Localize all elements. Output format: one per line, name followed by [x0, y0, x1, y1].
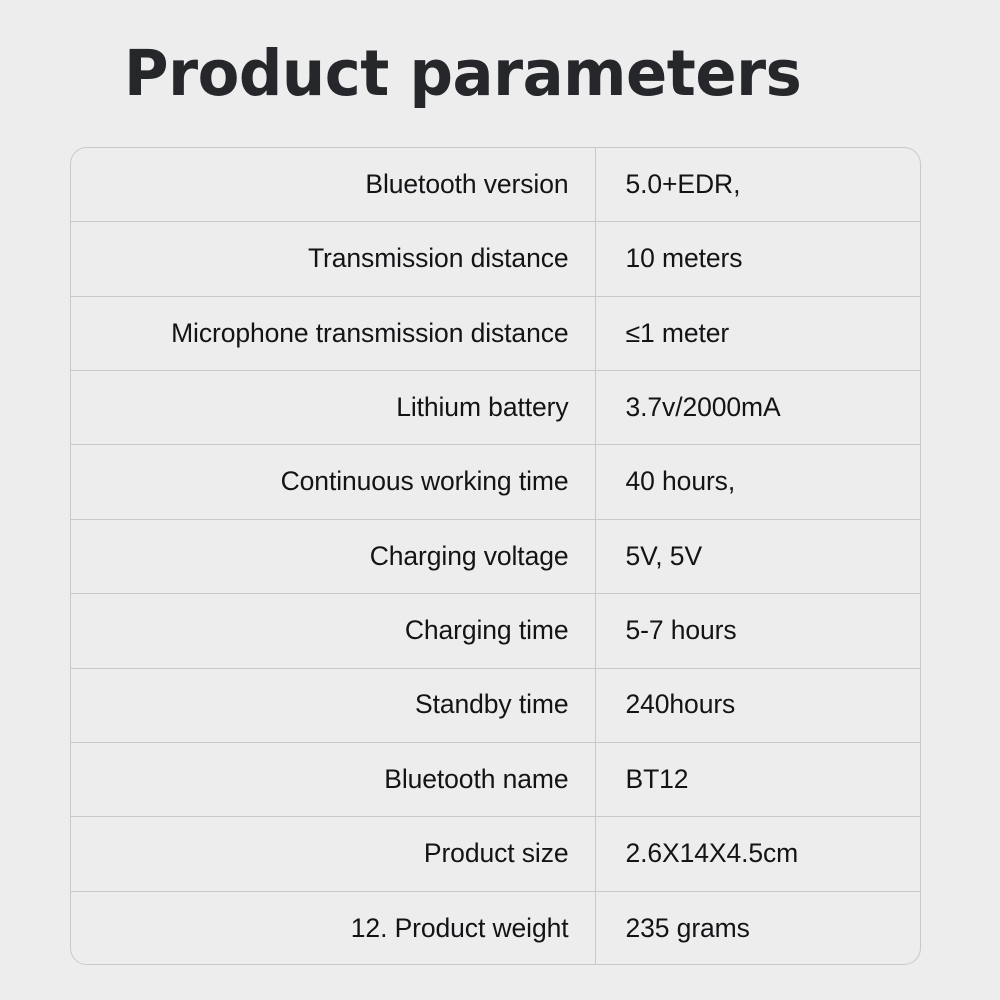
parameter-name-cell: Product size — [71, 817, 596, 890]
parameter-value-cell: ≤1 meter — [596, 297, 921, 370]
parameter-value-cell: 2.6X14X4.5cm — [596, 817, 921, 890]
parameter-name-cell: Lithium battery — [71, 371, 596, 444]
parameter-name-cell: Bluetooth version — [71, 148, 596, 221]
parameter-name-cell: Continuous working time — [71, 445, 596, 518]
parameter-name-cell: Charging time — [71, 594, 596, 667]
table-row: Continuous working time40 hours, — [71, 445, 920, 519]
parameter-name-cell: Microphone transmission distance — [71, 297, 596, 370]
page-title: Product parameters — [124, 33, 857, 115]
parameter-name-cell: Charging voltage — [71, 520, 596, 593]
table-row: Charging voltage5V, 5V — [71, 520, 920, 594]
product-parameters-page: Product parameters Bluetooth version5.0+… — [0, 0, 1000, 1000]
table-row: Standby time240hours — [71, 669, 920, 743]
parameter-value-cell: 3.7v/2000mA — [596, 371, 921, 444]
parameter-name-cell: Standby time — [71, 669, 596, 742]
parameter-value-cell: 235 grams — [596, 892, 921, 965]
parameter-value-cell: 5.0+EDR, — [596, 148, 921, 221]
parameter-name-cell: Bluetooth name — [71, 743, 596, 816]
table-row: Bluetooth nameBT12 — [71, 743, 920, 817]
table-row: 12. Product weight235 grams — [71, 892, 920, 965]
parameter-name-cell: 12. Product weight — [71, 892, 596, 965]
parameter-name-cell: Transmission distance — [71, 222, 596, 295]
parameter-value-cell: BT12 — [596, 743, 921, 816]
parameter-value-cell: 240hours — [596, 669, 921, 742]
parameter-value-cell: 5V, 5V — [596, 520, 921, 593]
table-row: Product size2.6X14X4.5cm — [71, 817, 920, 891]
parameter-value-cell: 5-7 hours — [596, 594, 921, 667]
specification-table: Bluetooth version5.0+EDR,Transmission di… — [70, 147, 921, 965]
table-row: Charging time5-7 hours — [71, 594, 920, 668]
table-row: Microphone transmission distance≤1 meter — [71, 297, 920, 371]
table-row: Transmission distance10 meters — [71, 222, 920, 296]
table-row: Bluetooth version5.0+EDR, — [71, 148, 920, 222]
table-row: Lithium battery3.7v/2000mA — [71, 371, 920, 445]
parameter-value-cell: 10 meters — [596, 222, 921, 295]
parameter-value-cell: 40 hours, — [596, 445, 921, 518]
